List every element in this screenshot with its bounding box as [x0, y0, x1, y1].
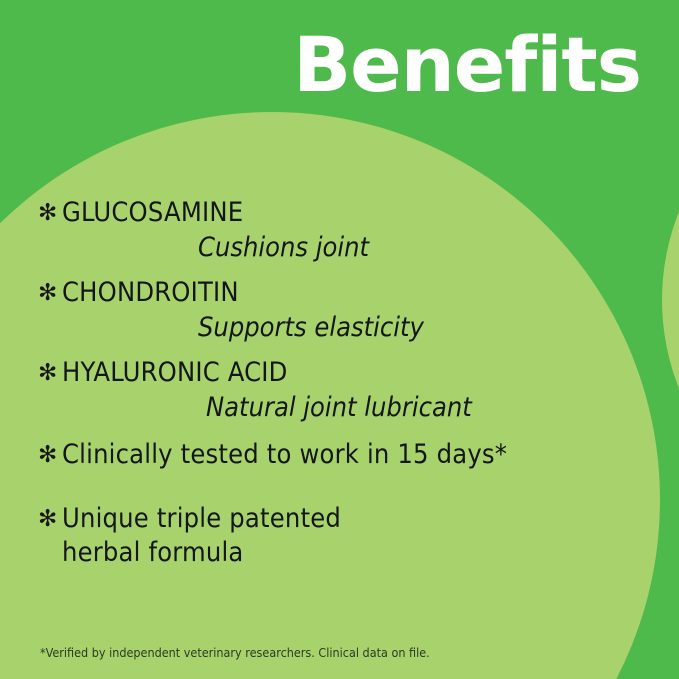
benefit-label: CHONDROITIN	[62, 276, 638, 310]
benefit-label: Unique triple patented herbal formula	[62, 502, 638, 570]
benefit-label: HYALURONIC ACID	[62, 356, 638, 390]
list-item: ✻ GLUCOSAMINE Cushions joint	[38, 196, 638, 264]
benefit-subtext: Cushions joint	[198, 231, 638, 264]
list-item: ✻ Unique triple patented herbal formula	[38, 502, 638, 570]
benefit-subtext: Natural joint lubricant	[206, 391, 638, 424]
page-title: Benefits	[293, 22, 641, 108]
flower-bullet-icon: ✻	[38, 502, 62, 536]
flower-bullet-icon: ✻	[38, 196, 62, 230]
footnote-disclaimer: *Verified by independent veterinary rese…	[40, 645, 430, 660]
list-item-main: ✻ GLUCOSAMINE	[38, 196, 638, 230]
benefits-list: ✻ GLUCOSAMINE Cushions joint ✻ CHONDROIT…	[38, 196, 638, 576]
list-item-main: ✻ Unique triple patented herbal formula	[38, 502, 638, 570]
list-item-main: ✻ HYALURONIC ACID	[38, 356, 638, 390]
flower-bullet-icon: ✻	[38, 356, 62, 390]
flower-bullet-icon: ✻	[38, 276, 62, 310]
benefits-poster: Benefits ✻ GLUCOSAMINE Cushions joint ✻ …	[0, 0, 679, 679]
poster-content: Benefits ✻ GLUCOSAMINE Cushions joint ✻ …	[0, 0, 679, 679]
list-item: ✻ Clinically tested to work in 15 days*	[38, 438, 638, 472]
benefit-subtext: Supports elasticity	[198, 311, 638, 344]
flower-bullet-icon: ✻	[38, 438, 62, 472]
list-item-main: ✻ CHONDROITIN	[38, 276, 638, 310]
benefit-label: GLUCOSAMINE	[62, 196, 638, 230]
list-item: ✻ CHONDROITIN Supports elasticity	[38, 276, 638, 344]
list-item-main: ✻ Clinically tested to work in 15 days*	[38, 438, 638, 472]
list-item: ✻ HYALURONIC ACID Natural joint lubrican…	[38, 356, 638, 424]
benefit-label: Clinically tested to work in 15 days*	[62, 438, 638, 472]
